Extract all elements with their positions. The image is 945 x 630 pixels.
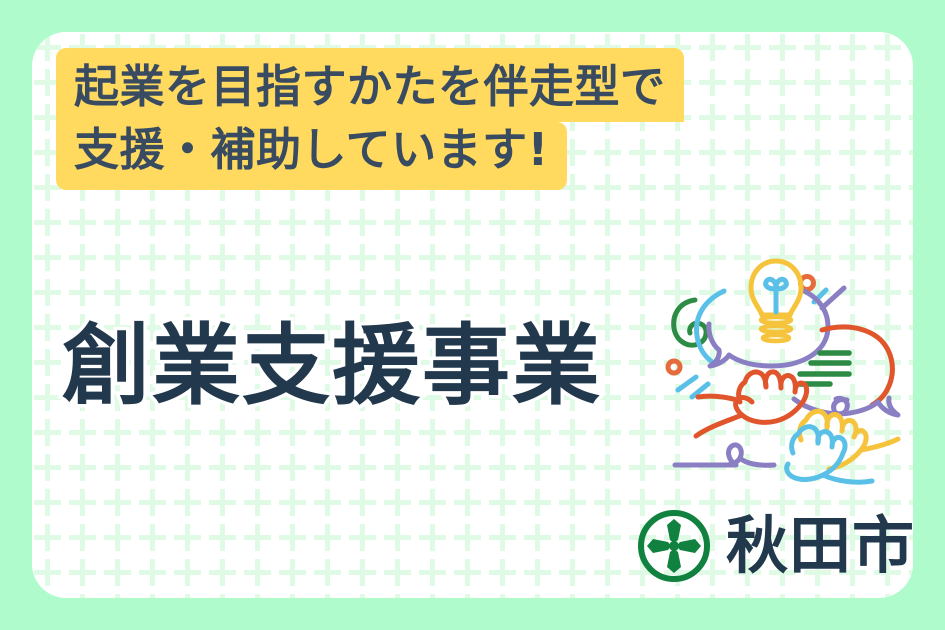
headline-block: 起業を目指すかたを伴走型で 支援・補助しています! — [56, 48, 684, 190]
poster-root: 起業を目指すかたを伴走型で 支援・補助しています! 創業支援事業 — [0, 0, 945, 630]
blue-dash-lines-icon — [678, 377, 696, 390]
lightbulb-filament-icon — [766, 279, 787, 312]
yellow-hand-icon — [800, 411, 898, 469]
white-card: 起業を目指すかたを伴走型で 支援・補助しています! 創業支援事業 — [32, 32, 913, 598]
orange-circle-outline-icon-2 — [668, 361, 680, 373]
lightbulb-base-coil-3 — [763, 335, 789, 341]
headline-line-1: 起業を目指すかたを伴走型で — [56, 48, 684, 122]
orange-speech-bubble — [822, 327, 892, 405]
akita-city-logo: 秋田市 — [636, 500, 913, 592]
purple-bubble-tail — [834, 398, 848, 413]
orange-hand-icon — [696, 372, 807, 436]
lightbulb-base-coil-1 — [761, 317, 791, 323]
collaboration-ideas-illustration — [650, 250, 913, 490]
headline-line-2: 支援・補助しています! — [56, 122, 567, 190]
page-title: 創業支援事業 — [62, 322, 602, 410]
lightbulb-base-coil-2 — [761, 326, 791, 332]
akita-city-logo-text: 秋田市 — [726, 515, 913, 577]
purple-underline-loop — [675, 445, 774, 465]
akita-city-crest-icon — [636, 508, 712, 584]
